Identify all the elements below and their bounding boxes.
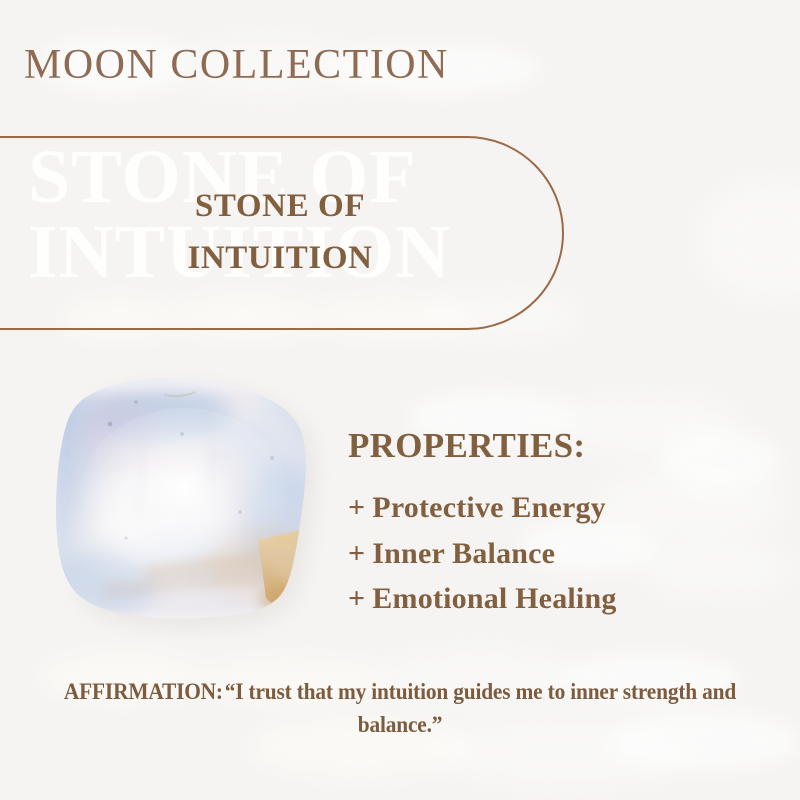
property-item: +Emotional Healing	[348, 576, 617, 622]
affirmation-label: AFFIRMATION:	[64, 679, 223, 704]
plus-icon: +	[348, 485, 365, 531]
moonstone-crystal-image	[44, 372, 334, 640]
properties-block: PROPERTIES: +Protective Energy +Inner Ba…	[348, 428, 617, 622]
properties-heading: PROPERTIES:	[348, 428, 617, 463]
plus-icon: +	[348, 531, 365, 577]
property-label: Emotional Healing	[372, 582, 616, 615]
property-label: Inner Balance	[372, 537, 555, 570]
affirmation-block: AFFIRMATION:“I trust that my intuition g…	[61, 676, 738, 741]
property-item: +Protective Energy	[348, 485, 617, 531]
hero-title: STONE OF INTUITION	[60, 180, 500, 284]
property-label: Protective Energy	[372, 491, 606, 524]
hero-title-line2: INTUITION	[60, 232, 500, 284]
affirmation-quote: “I trust that my intuition guides me to …	[225, 679, 736, 737]
plus-icon: +	[348, 576, 365, 622]
property-item: +Inner Balance	[348, 531, 617, 577]
poster-canvas: MOON COLLECTION STONE OF INTUITION STONE…	[0, 0, 800, 800]
hero-title-line1: STONE OF	[195, 188, 365, 224]
page-title: MOON COLLECTION	[24, 44, 449, 86]
